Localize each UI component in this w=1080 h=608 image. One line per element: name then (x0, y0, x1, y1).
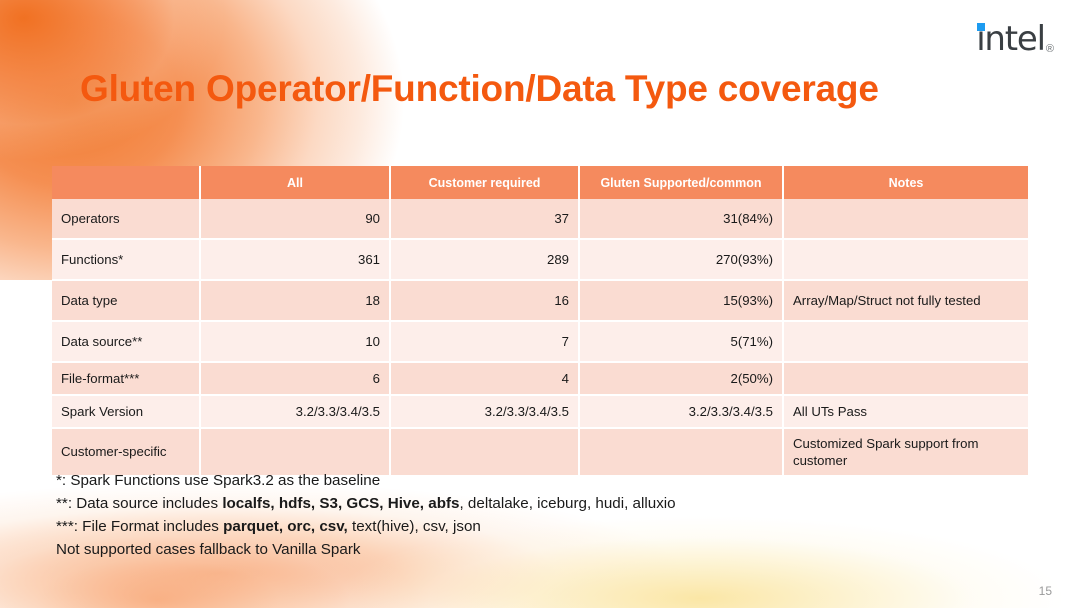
cell-all: 10 (201, 322, 391, 363)
footnote-3-bold: parquet, orc, csv, (223, 518, 348, 535)
intel-logo-dot-icon (977, 23, 985, 31)
cell-all: 6 (201, 363, 391, 396)
footnote-3-prefix: ***: File Format includes (56, 518, 223, 535)
page-number: 15 (1039, 584, 1052, 598)
cell-gluten-supported: 3.2/3.3/3.4/3.5 (580, 396, 784, 429)
cell-gluten-supported: 270(93%) (580, 240, 784, 281)
footnote-2-suffix: , deltalake, iceburg, hudi, alluxio (459, 495, 675, 512)
column-header-all: All (201, 166, 391, 199)
table-row: Spark Version 3.2/3.3/3.4/3.5 3.2/3.3/3.… (52, 396, 1028, 429)
cell-customer-required: 16 (391, 281, 580, 322)
table-row: Customer-specific Customized Spark suppo… (52, 429, 1028, 475)
cell-notes (784, 322, 1028, 363)
cell-customer-required: 3.2/3.3/3.4/3.5 (391, 396, 580, 429)
footnote-3-suffix: text(hive), csv, json (348, 518, 481, 535)
cell-customer-required: 37 (391, 199, 580, 240)
coverage-table: All Customer required Gluten Supported/c… (52, 166, 1028, 475)
cell-category: Operators (52, 199, 201, 240)
cell-category: Spark Version (52, 396, 201, 429)
cell-notes: All UTs Pass (784, 396, 1028, 429)
table-row: Data type 18 16 15(93%) Array/Map/Struct… (52, 281, 1028, 322)
coverage-table-container: All Customer required Gluten Supported/c… (52, 166, 1028, 475)
cell-category: Data type (52, 281, 201, 322)
table-header-row: All Customer required Gluten Supported/c… (52, 166, 1028, 199)
table-header: All Customer required Gluten Supported/c… (52, 166, 1028, 199)
cell-all: 90 (201, 199, 391, 240)
cell-category: Functions* (52, 240, 201, 281)
table-row: Functions* 361 289 270(93%) (52, 240, 1028, 281)
table-row: Operators 90 37 31(84%) (52, 199, 1028, 240)
cell-notes (784, 199, 1028, 240)
table-row: File-format*** 6 4 2(50%) (52, 363, 1028, 396)
cell-all: 3.2/3.3/3.4/3.5 (201, 396, 391, 429)
cell-all: 361 (201, 240, 391, 281)
footnotes: *: Spark Functions use Spark3.2 as the b… (56, 470, 676, 562)
cell-gluten-supported: 2(50%) (580, 363, 784, 396)
footnote-line-4: Not supported cases fallback to Vanilla … (56, 539, 676, 562)
cell-gluten-supported (580, 429, 784, 475)
cell-notes: Array/Map/Struct not fully tested (784, 281, 1028, 322)
cell-all: 18 (201, 281, 391, 322)
cell-customer-required (391, 429, 580, 475)
cell-all (201, 429, 391, 475)
cell-customer-required: 7 (391, 322, 580, 363)
footnote-2-bold: localfs, hdfs, S3, GCS, Hive, abfs (222, 495, 459, 512)
cell-notes: Customized Spark support from customer (784, 429, 1028, 475)
cell-category: File-format*** (52, 363, 201, 396)
table-body: Operators 90 37 31(84%) Functions* 361 2… (52, 199, 1028, 475)
slide-canvas: intel ® Gluten Operator/Function/Data Ty… (0, 0, 1080, 608)
cell-category: Data source** (52, 322, 201, 363)
intel-logo-wordmark: intel (976, 22, 1045, 56)
page-title: Gluten Operator/Function/Data Type cover… (80, 68, 879, 110)
footnote-2-prefix: **: Data source includes (56, 495, 222, 512)
footnote-line-3: ***: File Format includes parquet, orc, … (56, 516, 676, 539)
cell-gluten-supported: 15(93%) (580, 281, 784, 322)
cell-gluten-supported: 5(71%) (580, 322, 784, 363)
column-header-gluten-supported: Gluten Supported/common (580, 166, 784, 199)
cell-notes (784, 240, 1028, 281)
cell-notes (784, 363, 1028, 396)
intel-logo: intel ® (976, 22, 1054, 56)
cell-gluten-supported: 31(84%) (580, 199, 784, 240)
column-header-category (52, 166, 201, 199)
cell-customer-required: 4 (391, 363, 580, 396)
table-row: Data source** 10 7 5(71%) (52, 322, 1028, 363)
footnote-line-1: *: Spark Functions use Spark3.2 as the b… (56, 470, 676, 493)
column-header-customer-required: Customer required (391, 166, 580, 199)
column-header-notes: Notes (784, 166, 1028, 199)
cell-category: Customer-specific (52, 429, 201, 475)
cell-customer-required: 289 (391, 240, 580, 281)
registered-trademark-icon: ® (1046, 44, 1054, 55)
footnote-line-2: **: Data source includes localfs, hdfs, … (56, 493, 676, 516)
